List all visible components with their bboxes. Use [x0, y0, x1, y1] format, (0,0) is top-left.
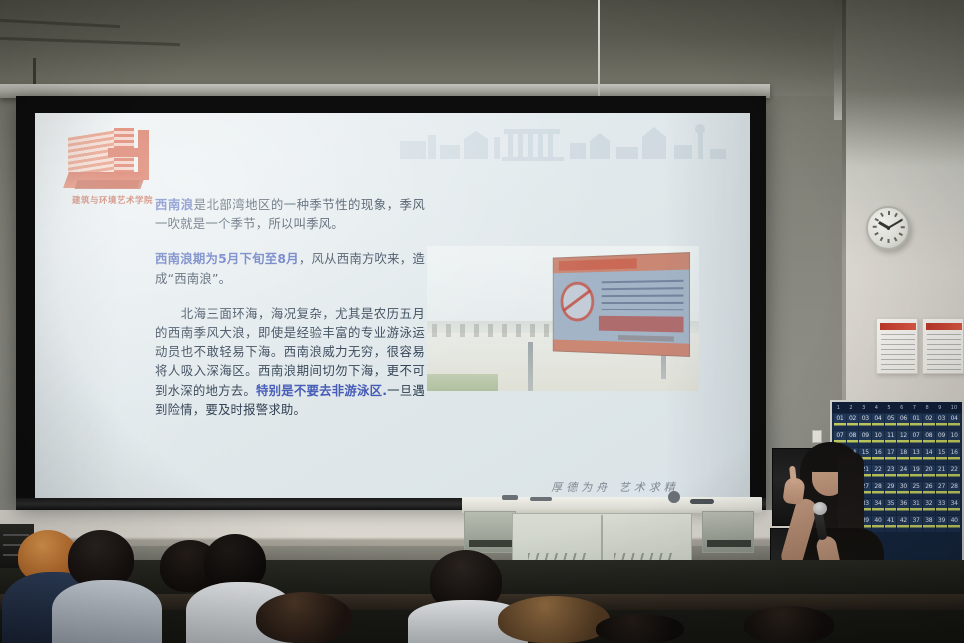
pocket-col-1: 1 — [837, 405, 840, 411]
phone-pocket[interactable]: 19 — [910, 465, 922, 481]
phone-pocket[interactable]: 16 — [948, 448, 960, 464]
phone-pocket[interactable]: 03 — [936, 414, 948, 430]
pocket-col-6: 6 — [900, 405, 903, 411]
wall-poster-2 — [922, 318, 964, 374]
skyline-watermark-icon — [392, 119, 732, 161]
phone-pocket[interactable]: 04 — [872, 414, 884, 430]
phone-pocket[interactable]: 01 — [910, 414, 922, 430]
phone-pocket[interactable]: 25 — [910, 482, 922, 498]
audience-head-6 — [256, 592, 352, 643]
phone-pocket[interactable]: 13 — [910, 448, 922, 464]
phone-pocket[interactable]: 10 — [948, 431, 960, 447]
phone-pocket[interactable]: 33 — [936, 499, 948, 515]
phone-pocket[interactable]: 26 — [923, 482, 935, 498]
no-swimming-sign — [552, 252, 690, 357]
phone-pocket[interactable]: 40 — [948, 516, 960, 532]
console-object-c — [668, 491, 680, 503]
pocket-col-9: 9 — [938, 405, 941, 411]
slide-p3-highlight: 特别是不要去非游泳区. — [256, 383, 387, 398]
console-motto: 厚德为舟 艺术求精 — [520, 479, 710, 495]
phone-pocket[interactable]: 12 — [897, 431, 909, 447]
phone-pocket[interactable]: 42 — [897, 516, 909, 532]
phone-pocket[interactable]: 02 — [847, 414, 859, 430]
sign-main-text — [599, 315, 683, 332]
pocket-col-4: 4 — [875, 405, 878, 411]
institution-logo: 建筑与环境艺术学院 — [55, 128, 170, 213]
slide-p1-highlight: 西南浪 — [155, 197, 194, 212]
phone-pocket[interactable]: 08 — [923, 431, 935, 447]
slide-paragraph-1: 西南浪是北部湾地区的一种季节性的现象，季风一吹就是一个季节，所以叫季风。 — [155, 195, 425, 233]
phone-pocket[interactable]: 37 — [910, 516, 922, 532]
slide-p2-highlight: 西南浪期为5月下旬至8月 — [155, 251, 299, 266]
phone-pocket[interactable]: 18 — [897, 448, 909, 464]
pocket-col-2: 2 — [849, 405, 852, 411]
phone-pocket[interactable]: 09 — [936, 431, 948, 447]
phone-pocket[interactable]: 22 — [948, 465, 960, 481]
pocket-col-5: 5 — [887, 405, 890, 411]
phone-pocket[interactable]: 06 — [897, 414, 909, 430]
phone-pocket[interactable]: 27 — [936, 482, 948, 498]
pocket-col-8: 8 — [925, 405, 928, 411]
phone-pocket[interactable]: 30 — [897, 482, 909, 498]
phone-pocket[interactable]: 05 — [885, 414, 897, 430]
phone-pocket[interactable]: 34 — [948, 499, 960, 515]
phone-pocket[interactable]: 14 — [923, 448, 935, 464]
phone-pocket[interactable]: 01 — [834, 414, 846, 430]
audience-shoulder-2 — [52, 580, 162, 643]
microphone-head-icon — [813, 502, 827, 515]
console-object-a — [502, 495, 518, 500]
pocket-col-7: 7 — [913, 405, 916, 411]
presenter-pointing-finger — [789, 466, 797, 485]
phone-pocket[interactable]: 07 — [910, 431, 922, 447]
phone-pocket[interactable]: 20 — [923, 465, 935, 481]
presentation-slide: 建筑与环境艺术学院 西南浪是北部湾地区的一种季节性的现象，季风一吹就是一个季节，… — [35, 113, 750, 498]
phone-pocket[interactable]: 15 — [936, 448, 948, 464]
ceiling — [0, 0, 964, 96]
ceiling-hook — [33, 58, 36, 86]
phone-pocket[interactable]: 31 — [910, 499, 922, 515]
console-left-bay — [464, 511, 516, 553]
slide-p1-text: 是北部湾地区的一种季节性的现象，季风一吹就是一个季节，所以叫季风。 — [155, 197, 425, 231]
wall-poster-1 — [876, 318, 918, 374]
phone-pocket[interactable]: 39 — [936, 516, 948, 532]
warning-sign-photo — [427, 246, 699, 391]
slide-text-body: 西南浪是北部湾地区的一种季节性的现象，季风一吹就是一个季节，所以叫季风。 西南浪… — [155, 195, 425, 419]
slide-paragraph-3: 北海三面环海，海况复杂，尤其是农历五月的西南季风大浪，即使是经验丰富的专业游泳运… — [155, 304, 425, 419]
phone-pocket[interactable]: 24 — [897, 465, 909, 481]
phone-pocket[interactable]: 03 — [859, 414, 871, 430]
pocket-col-10: 10 — [951, 405, 957, 411]
console-object-b — [530, 497, 552, 501]
phone-pocket[interactable]: 28 — [948, 482, 960, 498]
phone-pocket[interactable]: 02 — [923, 414, 935, 430]
console-right-bay — [702, 511, 754, 553]
slide-paragraph-2: 西南浪期为5月下旬至8月，风从西南方吹来，造成“西南浪”。 — [155, 249, 425, 287]
phone-pocket[interactable]: 38 — [923, 516, 935, 532]
audience-head-9 — [744, 606, 834, 643]
lecture-hall-scene: 建筑与环境艺术学院 西南浪是北部湾地区的一种季节性的现象，季风一吹就是一个季节，… — [0, 0, 964, 643]
phone-pocket[interactable]: 04 — [948, 414, 960, 430]
pocket-grid-header: 1 2 3 4 5 6 7 8 9 10 — [832, 402, 962, 413]
audience-head-10 — [596, 614, 684, 643]
wall-clock — [866, 206, 910, 250]
phone-pocket[interactable]: 36 — [897, 499, 909, 515]
logo-institution-name: 建筑与环境艺术学院 — [55, 194, 170, 206]
phone-pocket[interactable]: 21 — [936, 465, 948, 481]
pocket-col-3: 3 — [862, 405, 865, 411]
console-object-d — [690, 499, 714, 504]
logo-mark-icon — [64, 128, 160, 188]
audience-head-8 — [498, 596, 610, 643]
phone-pocket[interactable]: 32 — [923, 499, 935, 515]
